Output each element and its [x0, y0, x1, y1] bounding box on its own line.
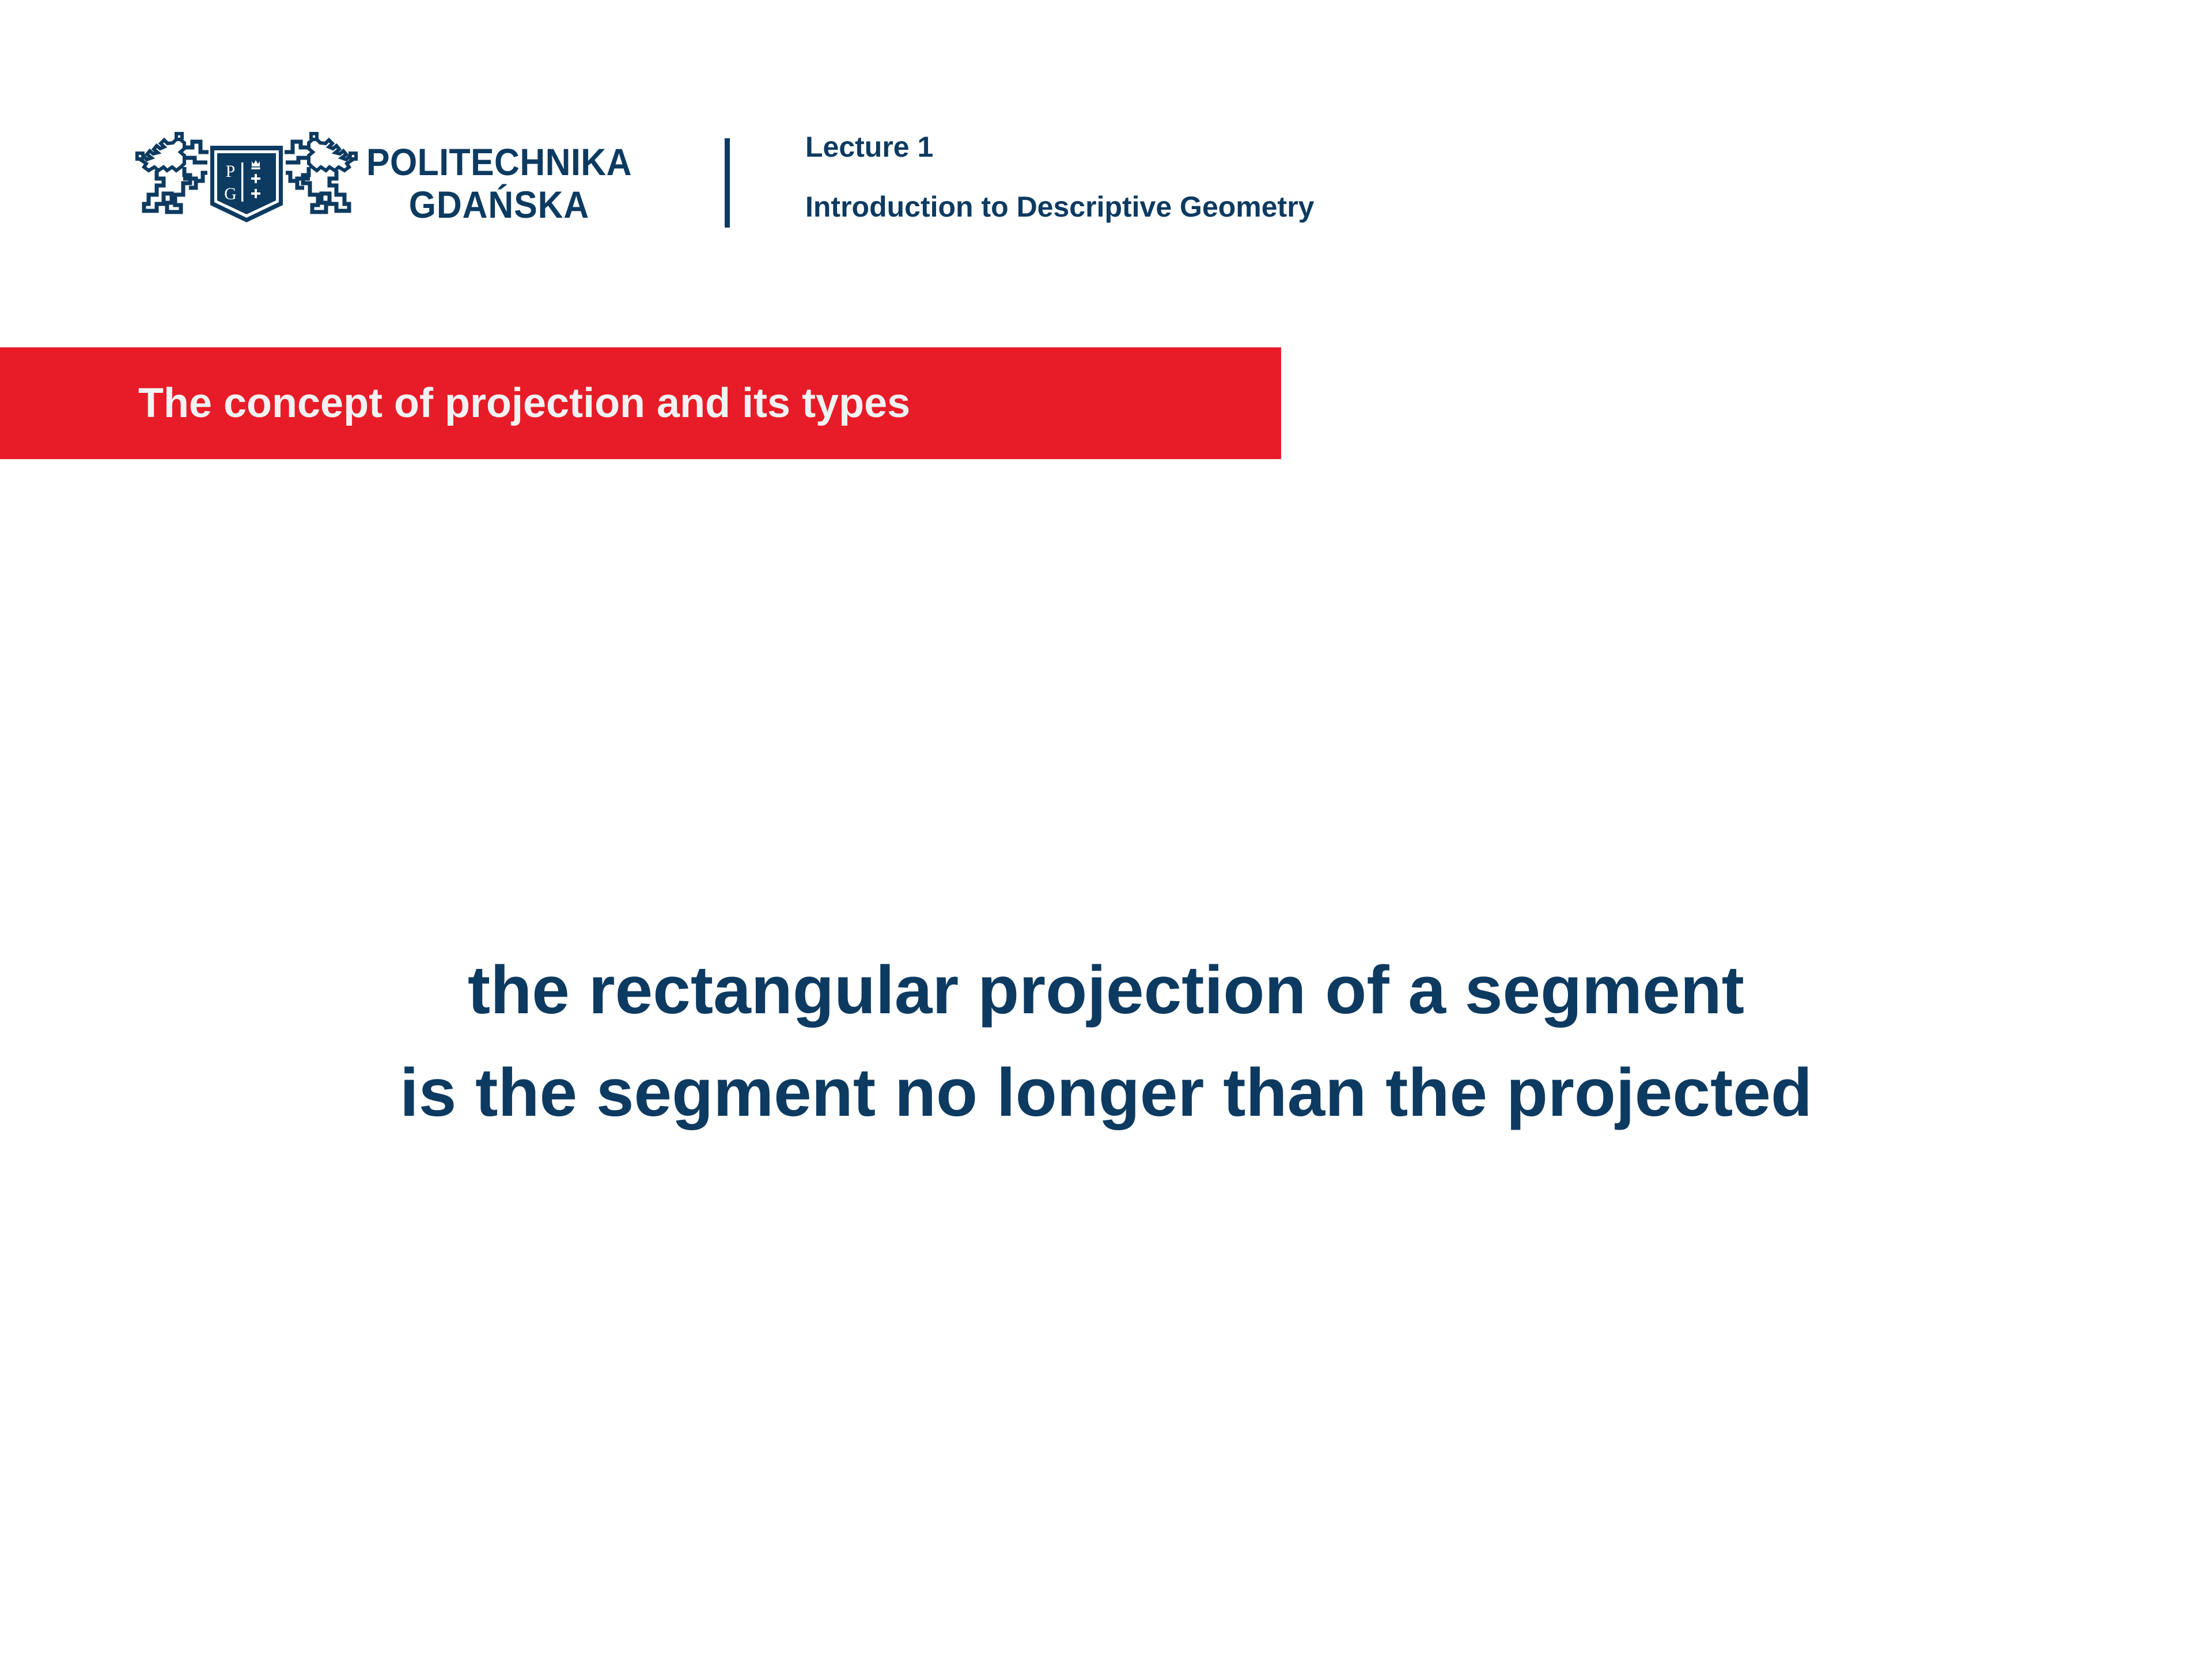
svg-text:P: P	[226, 162, 236, 181]
section-banner-title: The concept of projection and its types	[138, 382, 910, 424]
lecture-title-block: Lecture 1 Introduction to Descriptive Ge…	[805, 131, 1314, 222]
university-brand-block: P G	[131, 126, 655, 241]
section-banner: The concept of projection and its types	[0, 347, 1281, 459]
lecture-subject: Introduction to Descriptive Geometry	[805, 191, 1314, 222]
lecture-number: Lecture 1	[805, 131, 1314, 162]
svg-text:G: G	[224, 184, 237, 203]
header-divider	[725, 138, 730, 228]
university-wordmark: POLITECHNIKA GDAŃSKA	[366, 141, 632, 226]
statement-block: the rectangular projection of a segment …	[0, 939, 2212, 1144]
wordmark-line-1: POLITECHNIKA	[366, 141, 632, 183]
wordmark-line-2: GDAŃSKA	[366, 183, 632, 226]
statement-line-2: is the segment no longer than the projec…	[0, 1041, 2212, 1144]
politechnika-gdanska-crest-icon: P G	[131, 126, 362, 241]
slide-header: P G	[0, 0, 2212, 346]
statement-line-1: the rectangular projection of a segment	[0, 939, 2212, 1041]
